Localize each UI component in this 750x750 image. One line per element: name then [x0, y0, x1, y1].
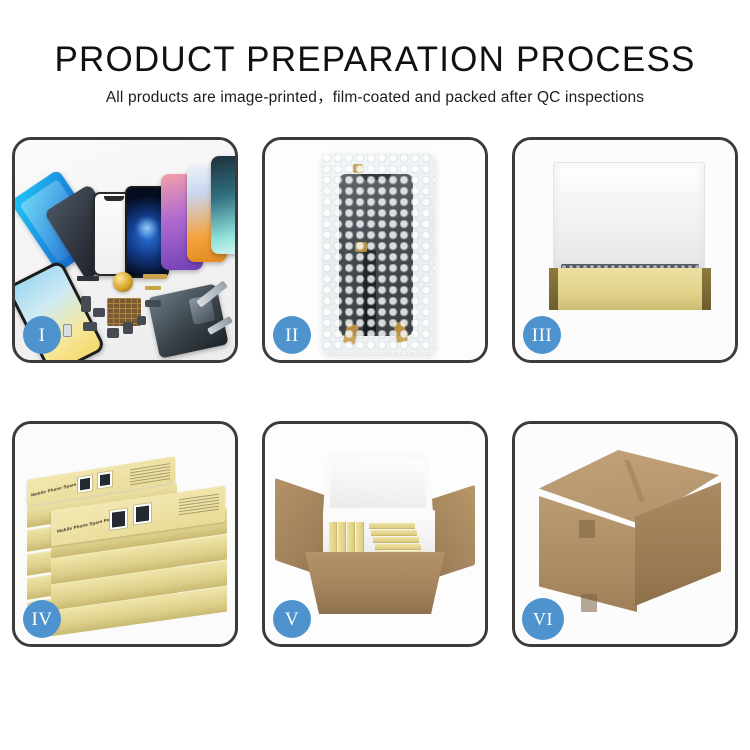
- small-part-3: [83, 322, 97, 331]
- product-preparation-infographic: PRODUCT PREPARATION PROCESS All products…: [0, 0, 750, 750]
- step-badge-3: III: [523, 316, 561, 354]
- yellow-inner-box: [549, 268, 711, 310]
- small-part-7: [145, 300, 161, 307]
- page-title: PRODUCT PREPARATION PROCESS: [0, 40, 750, 80]
- box-label-spec-lines-right: [179, 494, 219, 518]
- step-badge-1: I: [23, 316, 61, 354]
- step-badge-5: V: [273, 600, 311, 638]
- carton-tape-upper: [579, 520, 595, 538]
- box-label-image-left-2: [97, 470, 113, 490]
- flex-cable-1: [143, 274, 167, 279]
- process-step-3: III: [512, 137, 738, 363]
- box-label-image-left-1: [77, 474, 93, 494]
- small-part-6: [137, 316, 146, 325]
- foam-box-lid: [323, 454, 433, 514]
- gold-coil-part: [113, 272, 133, 292]
- process-step-grid: I II I: [12, 137, 738, 687]
- small-part-2: [93, 308, 105, 317]
- header: PRODUCT PREPARATION PROCESS All products…: [0, 40, 750, 108]
- process-step-6: VI: [512, 421, 738, 647]
- step-badge-6: VI: [522, 598, 564, 640]
- inner-box-flat-1: [369, 523, 415, 529]
- box-label-image-right-2: [133, 502, 152, 526]
- small-part-1: [81, 296, 91, 312]
- inner-box-flat-3: [373, 537, 419, 543]
- box-label-image-right-1: [109, 507, 128, 531]
- step-badge-4: IV: [23, 600, 61, 638]
- phone-display-teal: [211, 156, 235, 254]
- bubble-wrap-bag: [323, 154, 435, 354]
- carton-body: [305, 552, 445, 614]
- carton-tape-lower: [581, 594, 597, 612]
- small-part-4: [107, 328, 119, 338]
- inner-box-flat-4: [375, 544, 421, 550]
- flex-cable-2: [145, 286, 161, 290]
- inner-box-flat-2: [371, 530, 417, 536]
- step-badge-2: II: [273, 316, 311, 354]
- box-label-text-right: Mobile Phone Spare Parts: [57, 516, 116, 534]
- process-step-4: Mobile Phone Spare Parts Mobile: [12, 421, 238, 647]
- small-part-8: [63, 324, 72, 337]
- process-step-5: V: [262, 421, 488, 647]
- page-subtitle: All products are image-printed，film-coat…: [0, 88, 750, 108]
- process-step-2: II: [262, 137, 488, 363]
- process-step-1: I: [12, 137, 238, 363]
- white-foam-lid: [553, 162, 705, 274]
- small-part-5: [123, 322, 133, 334]
- small-part-bar-1: [77, 276, 99, 281]
- bubble-texture: [323, 154, 435, 354]
